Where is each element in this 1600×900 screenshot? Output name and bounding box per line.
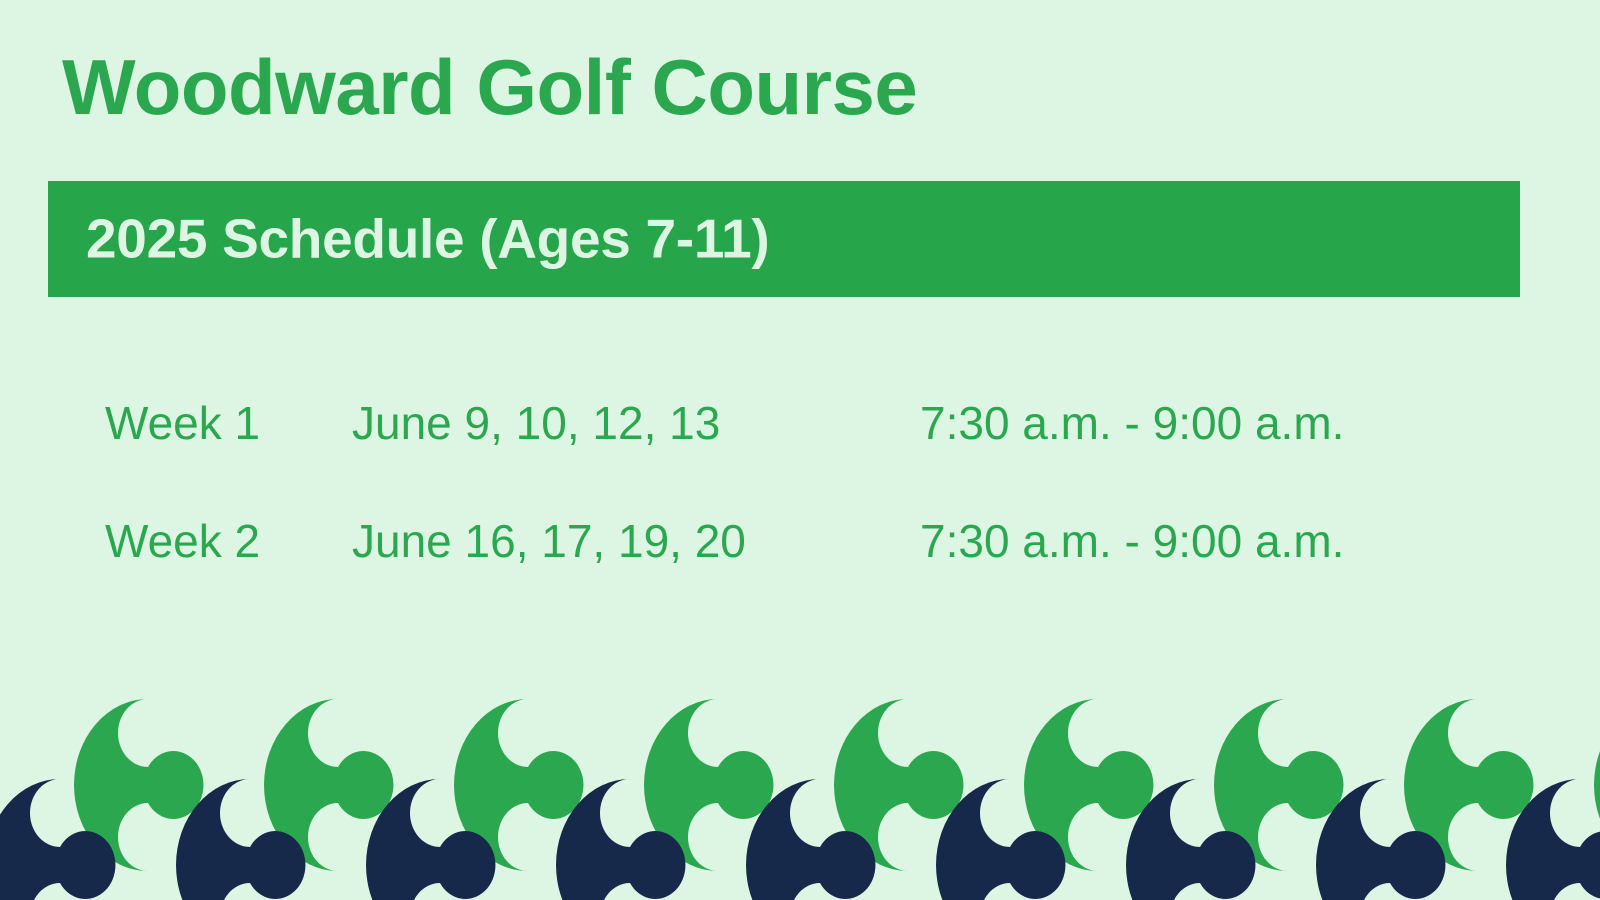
schedule-time-value: 7:30 a.m. - 9:00 a.m. <box>920 392 1344 454</box>
poster-canvas: Woodward Golf Course 2025 Schedule (Ages… <box>0 0 1600 900</box>
schedule-week-label: Week 2 <box>105 510 260 572</box>
schedule-dates-value: June 9, 10, 12, 13 <box>352 392 720 454</box>
schedule-row: Week 1 June 9, 10, 12, 13 7:30 a.m. - 9:… <box>0 392 1600 510</box>
schedule-table: Week 1 June 9, 10, 12, 13 7:30 a.m. - 9:… <box>0 392 1600 628</box>
subtitle-banner: 2025 Schedule (Ages 7-11) <box>48 181 1520 297</box>
decorative-c-pattern <box>0 660 1600 900</box>
schedule-week-label: Week 1 <box>105 392 260 454</box>
schedule-time-value: 7:30 a.m. - 9:00 a.m. <box>920 510 1344 572</box>
subtitle-banner-label: 2025 Schedule (Ages 7-11) <box>86 212 769 267</box>
c-pattern-svg <box>0 660 1600 900</box>
schedule-dates-value: June 16, 17, 19, 20 <box>352 510 746 572</box>
c-pattern-tiles <box>0 699 1600 900</box>
page-title: Woodward Golf Course <box>62 48 917 126</box>
schedule-row: Week 2 June 16, 17, 19, 20 7:30 a.m. - 9… <box>0 510 1600 628</box>
